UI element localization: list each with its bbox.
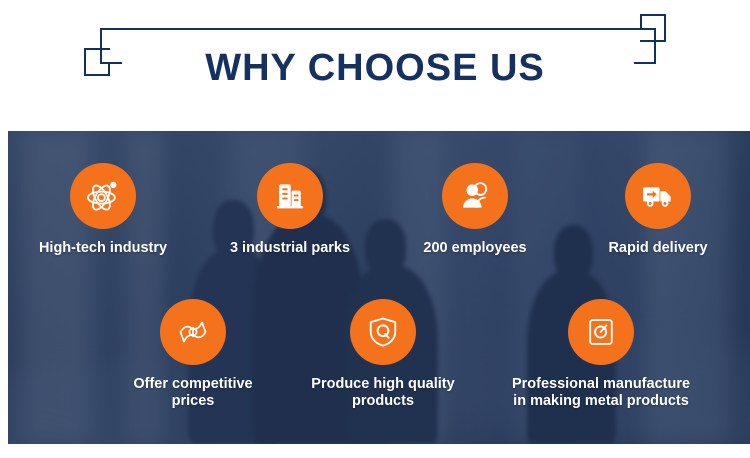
- feature-label: Rapid delivery: [580, 240, 736, 257]
- buildings-icon: [273, 179, 307, 213]
- frame-top-line: [100, 28, 656, 30]
- feature-label: High-tech industry: [30, 240, 176, 257]
- feature-item-high-quality-products[interactable]: Produce high quality products: [300, 299, 466, 410]
- feature-icon-circle: [442, 163, 508, 229]
- feature-item-industrial-parks[interactable]: 3 industrial parks: [217, 163, 363, 257]
- people-icon: [458, 179, 492, 213]
- feature-item-professional-manufacture[interactable]: Professional manufacture in making metal…: [498, 299, 704, 410]
- feature-label: Offer competitive prices: [114, 376, 272, 410]
- feature-icon-circle: [160, 299, 226, 365]
- feature-item-competitive-prices[interactable]: Offer competitive prices: [114, 299, 272, 410]
- frame-right-corner-bracket: [640, 14, 666, 42]
- truck-icon: [640, 178, 676, 214]
- feature-item-high-tech-industry[interactable]: High-tech industry: [30, 163, 176, 257]
- banner: High-tech industry: [8, 131, 750, 444]
- money-icon: [175, 314, 211, 350]
- shield-q-icon: [365, 314, 401, 350]
- feature-item-rapid-delivery[interactable]: Rapid delivery: [580, 163, 736, 257]
- feature-label: 200 employees: [397, 240, 553, 257]
- target-box-icon: [584, 315, 618, 349]
- feature-icon-circle: [350, 299, 416, 365]
- why-choose-us-banner: WHY CHOOSE US: [0, 0, 750, 458]
- feature-label: Professional manufacture in making metal…: [498, 376, 704, 410]
- feature-item-employees[interactable]: 200 employees: [397, 163, 553, 257]
- feature-label: 3 industrial parks: [217, 240, 363, 257]
- feature-grid: High-tech industry: [8, 131, 750, 444]
- feature-icon-circle: [625, 163, 691, 229]
- feature-icon-circle: [257, 163, 323, 229]
- page-title: WHY CHOOSE US: [0, 44, 750, 92]
- atom-icon: [84, 177, 122, 215]
- feature-icon-circle: [70, 163, 136, 229]
- feature-label: Produce high quality products: [300, 376, 466, 410]
- header-section: WHY CHOOSE US: [0, 0, 750, 128]
- feature-icon-circle: [568, 299, 634, 365]
